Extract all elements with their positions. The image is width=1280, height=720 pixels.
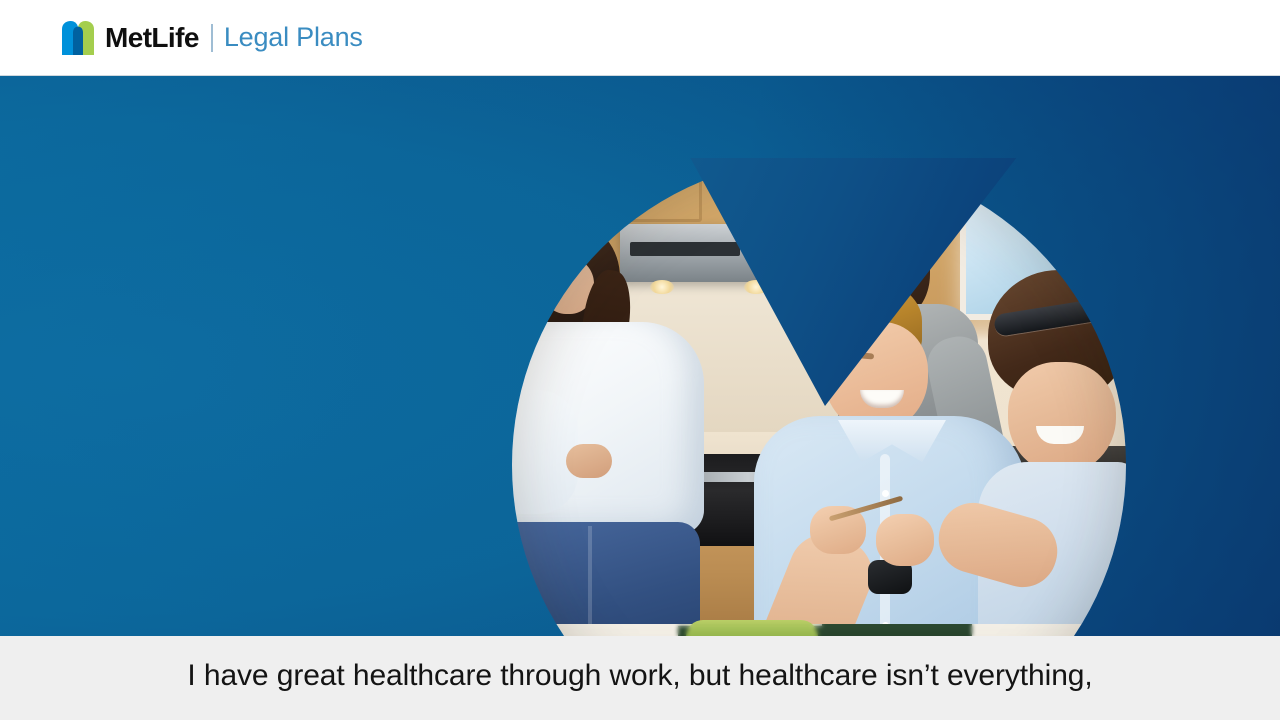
circular-photo <box>512 158 1126 636</box>
cabinet-seam <box>940 158 944 178</box>
foreground-depth-blur <box>512 624 1126 636</box>
video-stage <box>0 76 1280 636</box>
jeans-seam <box>588 526 592 636</box>
face <box>1008 362 1116 474</box>
caption-text: I have great healthcare through work, bu… <box>187 659 1092 693</box>
metlife-m-logo-icon <box>62 21 94 55</box>
cabinet-seam <box>808 158 812 240</box>
under-cabinet-light <box>650 280 674 294</box>
hand-right <box>876 514 934 566</box>
jeans <box>512 522 700 636</box>
kitchen-scene <box>512 158 1126 636</box>
photo-image <box>512 158 1126 636</box>
brand-lockup[interactable]: MetLife Legal Plans <box>62 21 363 55</box>
caption-bar: I have great healthcare through work, bu… <box>0 636 1280 720</box>
face <box>876 238 918 284</box>
under-cabinet-light <box>744 280 768 294</box>
brand-subtitle: Legal Plans <box>224 24 363 51</box>
brand-divider <box>211 24 213 52</box>
shirt-button <box>882 490 889 497</box>
page-header: MetLife Legal Plans <box>0 0 1280 76</box>
range-hood-vent <box>630 242 740 256</box>
hand <box>566 444 612 478</box>
brand-name: MetLife <box>105 24 199 52</box>
cabinet-panel <box>618 164 702 222</box>
video-frame: MetLife Legal Plans <box>0 0 1280 720</box>
